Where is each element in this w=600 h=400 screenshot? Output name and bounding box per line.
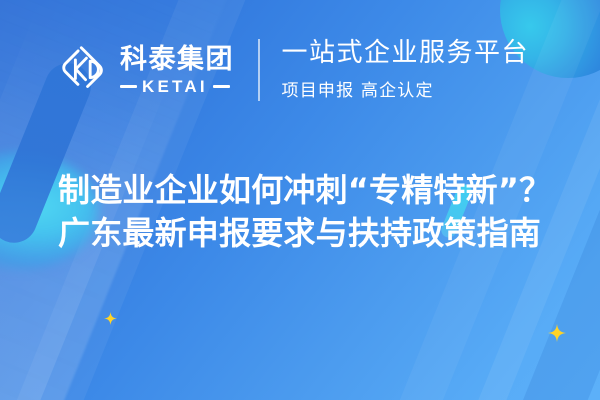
- brand-rule-right-icon: [213, 85, 230, 88]
- tagline-sub-text: 项目申报 高企认定: [282, 76, 530, 101]
- brand-rule-left-icon: [120, 85, 137, 88]
- promo-banner: 科泰集团 KETAI 一站式企业服务平台 项目申报 高企认定 制造业企业如何冲刺…: [0, 0, 600, 400]
- brand-name-en-row: KETAI: [120, 78, 234, 95]
- brand-wordmark: 科泰集团 KETAI: [120, 46, 234, 95]
- header-divider: [258, 39, 260, 101]
- banner-headline: 制造业企业如何冲刺“专精特新”？广东最新申报要求与扶持政策指南: [58, 169, 558, 254]
- banner-header: 科泰集团 KETAI 一站式企业服务平台 项目申报 高企认定: [0, 0, 600, 140]
- header-tagline: 一站式企业服务平台 项目申报 高企认定: [282, 39, 530, 101]
- brand-logo[interactable]: 科泰集团 KETAI: [56, 43, 234, 97]
- ketai-diamond-monogram-icon: [56, 43, 110, 97]
- sparkle-star-icon-left: [104, 312, 117, 325]
- sparkle-star-icon-right: [548, 324, 566, 342]
- tagline-main-text: 一站式企业服务平台: [282, 39, 530, 69]
- brand-name-cn: 科泰集团: [120, 46, 234, 73]
- brand-name-en: KETAI: [142, 78, 208, 95]
